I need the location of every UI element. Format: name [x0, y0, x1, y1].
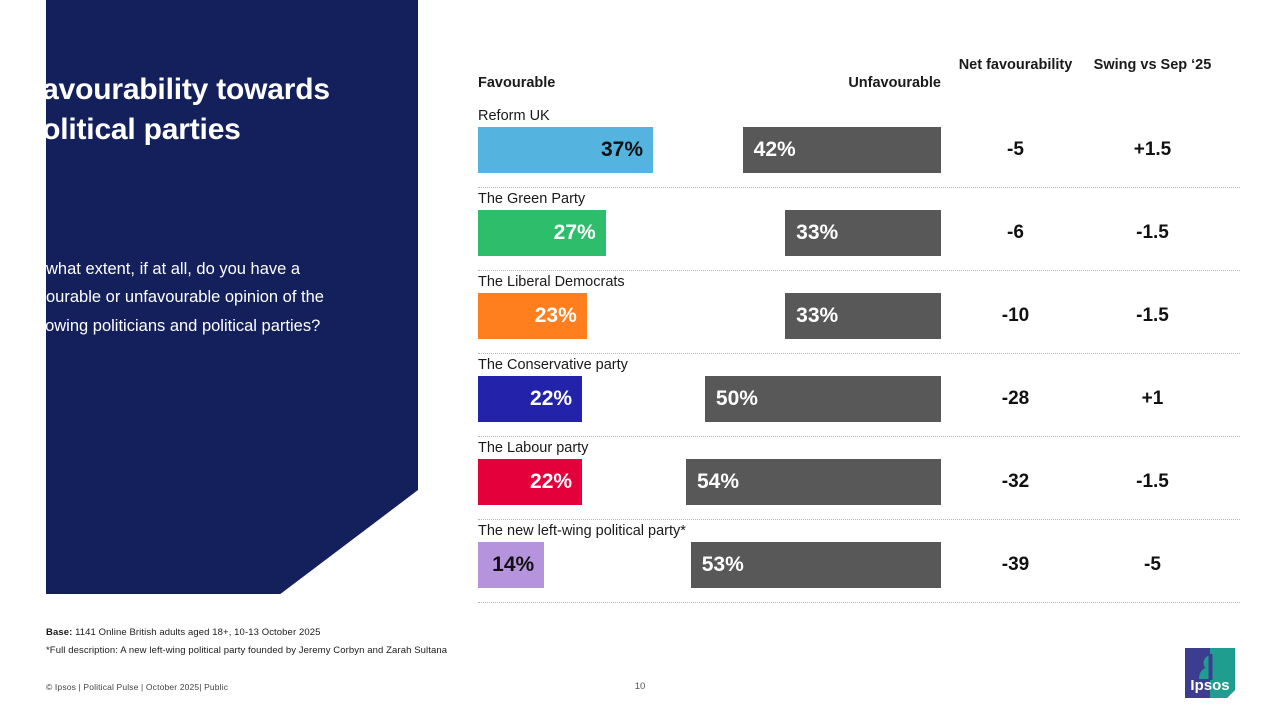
net-favourability-value: -10: [953, 293, 1078, 339]
unfavourable-bar[interactable]: 33%: [785, 293, 941, 339]
footnotes: Base: 1141 Online British adults aged 18…: [46, 624, 746, 659]
row-bars: 22%54%-32-1.5: [478, 459, 1240, 505]
base-text: 1141 Online British adults aged 18+, 10-…: [72, 627, 320, 638]
swing-value: -1.5: [1090, 293, 1215, 339]
unfavourable-track: 33%: [478, 293, 941, 339]
chart-rows: Reform UK37%42%-5+1.5The Green Party27%3…: [478, 105, 1240, 603]
table-row[interactable]: The Green Party27%33%-6-1.5: [478, 188, 1240, 271]
net-favourability-value: -39: [953, 542, 1078, 588]
table-row[interactable]: Reform UK37%42%-5+1.5: [478, 105, 1240, 188]
page-number: 10: [612, 681, 668, 692]
base-footnote: Base: 1141 Online British adults aged 18…: [46, 624, 746, 642]
unfavourable-bar[interactable]: 33%: [785, 210, 941, 256]
row-bars: 14%53%-39-5: [478, 542, 1240, 588]
unfavourable-value-label: 54%: [686, 470, 739, 494]
unfavourable-bar[interactable]: 50%: [705, 376, 941, 422]
column-header-net-favourability: Net favourability: [953, 56, 1078, 75]
unfavourable-track: 42%: [478, 127, 941, 173]
full-description-footnote: *Full description: A new left-wing polit…: [46, 642, 746, 660]
row-bars: 22%50%-28+1: [478, 376, 1240, 422]
table-row[interactable]: The Conservative party22%50%-28+1: [478, 354, 1240, 437]
survey-question-text: To what extent, if at all, do you have a…: [24, 255, 354, 340]
unfavourable-bar[interactable]: 42%: [743, 127, 941, 173]
slide-canvas: Favourability towards political parties …: [0, 0, 1280, 720]
swing-value: -1.5: [1090, 210, 1215, 256]
unfavourable-bar[interactable]: 53%: [691, 542, 941, 588]
unfavourable-value-label: 50%: [705, 387, 758, 411]
unfavourable-track: 54%: [478, 459, 941, 505]
swing-value: -5: [1090, 542, 1215, 588]
table-row[interactable]: The Labour party22%54%-32-1.5: [478, 437, 1240, 520]
favourability-chart: Favourable Unfavourable Net favourabilit…: [478, 0, 1240, 610]
column-header-favourable: Favourable: [478, 74, 555, 93]
copyright-line: © Ipsos | Political Pulse | October 2025…: [46, 682, 228, 692]
row-bars: 27%33%-6-1.5: [478, 210, 1240, 256]
ipsos-wordmark: Ipsos: [1190, 677, 1229, 694]
swing-value: +1.5: [1090, 127, 1215, 173]
row-label-party: The Labour party: [478, 440, 588, 456]
base-label: Base:: [46, 627, 72, 638]
net-favourability-value: -32: [953, 459, 1078, 505]
row-label-party: The new left-wing political party*: [478, 523, 686, 539]
table-row[interactable]: The Liberal Democrats23%33%-10-1.5: [478, 271, 1240, 354]
swing-value: -1.5: [1090, 459, 1215, 505]
column-header-row: Favourable Unfavourable Net favourabilit…: [478, 44, 1240, 104]
row-label-party: The Liberal Democrats: [478, 274, 625, 290]
unfavourable-track: 50%: [478, 376, 941, 422]
row-label-party: Reform UK: [478, 108, 550, 124]
row-label-party: The Green Party: [478, 191, 585, 207]
net-favourability-value: -28: [953, 376, 1078, 422]
row-label-party: The Conservative party: [478, 357, 628, 373]
row-bars: 23%33%-10-1.5: [478, 293, 1240, 339]
column-header-swing: Swing vs Sep ‘25: [1090, 56, 1215, 75]
net-favourability-value: -5: [953, 127, 1078, 173]
swing-value: +1: [1090, 376, 1215, 422]
unfavourable-value-label: 42%: [743, 138, 796, 162]
net-favourability-value: -6: [953, 210, 1078, 256]
unfavourable-value-label: 53%: [691, 553, 744, 577]
ipsos-logo: Ipsos: [1183, 646, 1237, 700]
unfavourable-bar[interactable]: 54%: [686, 459, 941, 505]
page-title: Favourability towards political parties: [24, 70, 344, 150]
row-bars: 37%42%-5+1.5: [478, 127, 1240, 173]
unfavourable-value-label: 33%: [785, 221, 838, 245]
unfavourable-track: 53%: [478, 542, 941, 588]
column-header-unfavourable: Unfavourable: [708, 74, 941, 93]
table-row[interactable]: The new left-wing political party*14%53%…: [478, 520, 1240, 603]
unfavourable-value-label: 33%: [785, 304, 838, 328]
unfavourable-track: 33%: [478, 210, 941, 256]
